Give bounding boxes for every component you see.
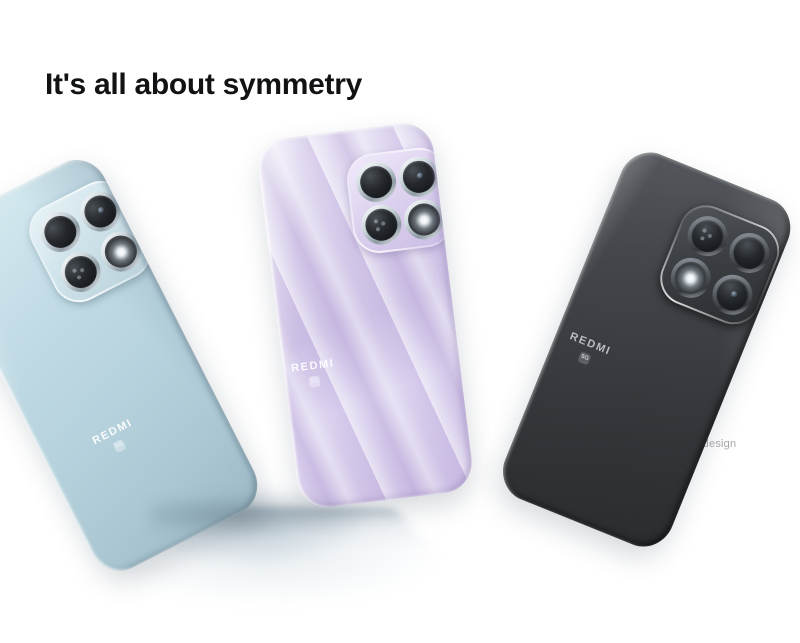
main-lens-icon xyxy=(353,159,398,204)
flash-icon xyxy=(401,197,446,242)
telephoto-lens-icon xyxy=(73,184,127,238)
network-badge: 5G xyxy=(577,351,591,365)
brand-logo: REDMI 5G xyxy=(91,417,142,461)
telephoto-lens-icon xyxy=(396,154,441,199)
macro-lens-icon xyxy=(53,245,107,299)
contact-shadow xyxy=(150,495,380,535)
network-badge: 5G xyxy=(309,375,321,387)
page-title: It's all about symmetry xyxy=(45,68,362,102)
product-phone-black[interactable]: REDMI 5G xyxy=(494,143,800,555)
brand-logo: REDMI 5G xyxy=(291,358,337,390)
flash-icon xyxy=(664,251,716,303)
brand-logo-text: REDMI xyxy=(568,330,613,357)
camera-deco-plate xyxy=(344,145,455,256)
brand-logo: REDMI 5G xyxy=(562,330,612,371)
brand-logo-text: REDMI xyxy=(291,358,336,375)
flash-icon xyxy=(93,224,147,278)
phone-back-panel: REDMI 5G xyxy=(255,120,475,511)
phone-back-panel: REDMI 5G xyxy=(494,143,800,555)
camera-deco-plate xyxy=(20,172,160,312)
product-phone-purple[interactable]: REDMI 5G xyxy=(255,120,475,511)
telephoto-lens-icon xyxy=(706,268,758,320)
macro-lens-icon xyxy=(681,209,733,261)
product-hero-stage: It's all about symmetry REDMI 5G xyxy=(0,0,800,643)
main-lens-icon xyxy=(33,205,87,259)
brand-logo-text: REDMI xyxy=(91,417,135,447)
camera-deco-plate xyxy=(652,197,787,332)
macro-lens-icon xyxy=(359,202,404,247)
network-badge: 5G xyxy=(112,438,127,453)
main-lens-icon xyxy=(723,226,775,278)
